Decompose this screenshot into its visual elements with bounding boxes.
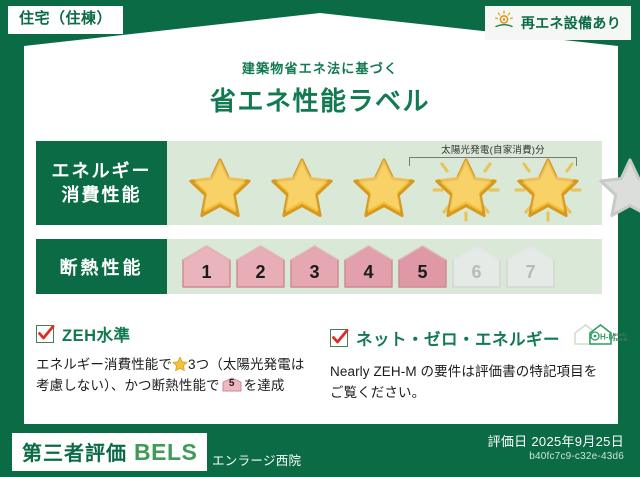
star-icon	[597, 155, 640, 221]
energy-rating-body: 太陽光発電(自家消費)分	[167, 141, 602, 225]
star-icon	[269, 155, 335, 221]
checkbox-zeh	[36, 325, 54, 343]
insulation-grade-number: 7	[505, 262, 556, 283]
star-icon	[351, 155, 417, 221]
zeh-text-part3: を達成	[244, 378, 285, 393]
star-icon	[187, 155, 253, 221]
insulation-grade-number: 6	[451, 262, 502, 283]
inline-grade-badge: 5	[222, 377, 242, 392]
energy-label-line1: エネルギー	[52, 159, 152, 183]
title-block: 建築物省エネ法に基づく 省エネ性能ラベル	[0, 58, 640, 118]
energy-performance-label: 住宅（住棟） 再エネ設備あり 建築物省エネ法に基づく 省エネ性能ラベル	[0, 0, 640, 477]
insulation-grade-number: 3	[289, 262, 340, 283]
sun-icon	[493, 10, 515, 35]
bels-plate: 第三者評価 BELS	[12, 433, 207, 471]
building-type-badge: 住宅（住棟）	[8, 6, 123, 34]
zeh-text-part1: エネルギー消費性能で	[36, 357, 172, 372]
criteria-netzero-title: ネット・ゼロ・エネルギー	[356, 326, 560, 350]
inline-star-icon	[172, 356, 188, 372]
star-1	[181, 155, 259, 221]
energy-label-line2: 消費性能	[62, 183, 142, 207]
star-5	[509, 155, 587, 221]
evaluation-id: b40fc7c9-c32e-43d6	[529, 451, 624, 462]
insulation-label-text: 断熱性能	[60, 254, 144, 280]
zeh-star-count: 3つ	[188, 357, 209, 372]
criteria-zeh-body: エネルギー消費性能で 3つ（太陽光発電は考慮しない）、かつ断熱性能で 5 を達成	[36, 355, 308, 397]
star-4	[427, 155, 505, 221]
energy-performance-label: エネルギー 消費性能	[36, 141, 167, 225]
footer: 第三者評価 BELS エンラージ西院 評価日 2025年9月25日 b40fc7…	[0, 424, 640, 477]
title-main: 省エネ性能ラベル	[0, 81, 640, 118]
insulation-grade-1: 1	[181, 244, 232, 289]
building-type-label: 住宅（住棟）	[19, 10, 112, 27]
star-6	[591, 155, 640, 221]
insulation-grade-3: 3	[289, 244, 340, 289]
bels-en-label: BELS	[134, 439, 197, 466]
bels-jp-label: 第三者評価	[22, 437, 127, 466]
insulation-grade-4: 4	[343, 244, 394, 289]
insulation-grade-number: 5	[397, 262, 448, 283]
insulation-grade-2: 2	[235, 244, 286, 289]
insulation-rating-body: 1234567	[167, 239, 602, 294]
star-icon	[515, 155, 581, 221]
insulation-grade-number: 1	[181, 262, 232, 283]
criteria-zeh: ZEH水準 エネルギー消費性能で 3つ（太陽光発電は考慮しない）、かつ断熱性能で…	[36, 322, 308, 404]
star-rating-strip	[181, 155, 640, 221]
renewable-energy-badge: 再エネ設備あり	[485, 6, 631, 40]
building-name: エンラージ西院	[212, 450, 301, 469]
insulation-grade-5: 5	[397, 244, 448, 289]
checkbox-netzero	[330, 329, 348, 347]
title-subtitle: 建築物省エネ法に基づく	[0, 58, 640, 77]
criteria-zeh-header: ZEH水準	[36, 322, 308, 346]
renewable-badge-label: 再エネ設備あり	[521, 13, 621, 33]
insulation-grade-7: 7	[505, 244, 556, 289]
insulation-grade-6: 6	[451, 244, 502, 289]
star-3	[345, 155, 423, 221]
insulation-grade-number: 4	[343, 262, 394, 283]
energy-performance-row: エネルギー 消費性能 太陽光発電(自家消費)分	[36, 141, 602, 225]
insulation-grade-number: 2	[235, 262, 286, 283]
criteria-section: ZEH水準 エネルギー消費性能で 3つ（太陽光発電は考慮しない）、かつ断熱性能で…	[36, 322, 602, 404]
evaluation-date: 評価日 2025年9月25日	[488, 431, 624, 450]
insulation-grade-strip: 1234567	[181, 244, 556, 289]
inline-grade-number: 5	[222, 376, 242, 392]
criteria-netzero: ネット・ゼロ・エネルギー H-M Nearly ZEH-M Nearly ZEH…	[330, 322, 602, 404]
zehm-logo-icon: H-M Nearly ZEH-M	[572, 322, 628, 353]
svg-text:ZEH-M: ZEH-M	[613, 337, 627, 342]
criteria-zeh-title: ZEH水準	[62, 322, 131, 346]
criteria-netzero-header: ネット・ゼロ・エネルギー H-M Nearly ZEH-M	[330, 322, 602, 353]
criteria-netzero-body: Nearly ZEH-M の要件は評価書の特記項目をご覧ください。	[330, 362, 602, 404]
insulation-performance-row: 断熱性能 1234567	[36, 239, 602, 294]
star-icon	[433, 155, 499, 221]
star-2	[263, 155, 341, 221]
insulation-performance-label: 断熱性能	[36, 239, 167, 294]
